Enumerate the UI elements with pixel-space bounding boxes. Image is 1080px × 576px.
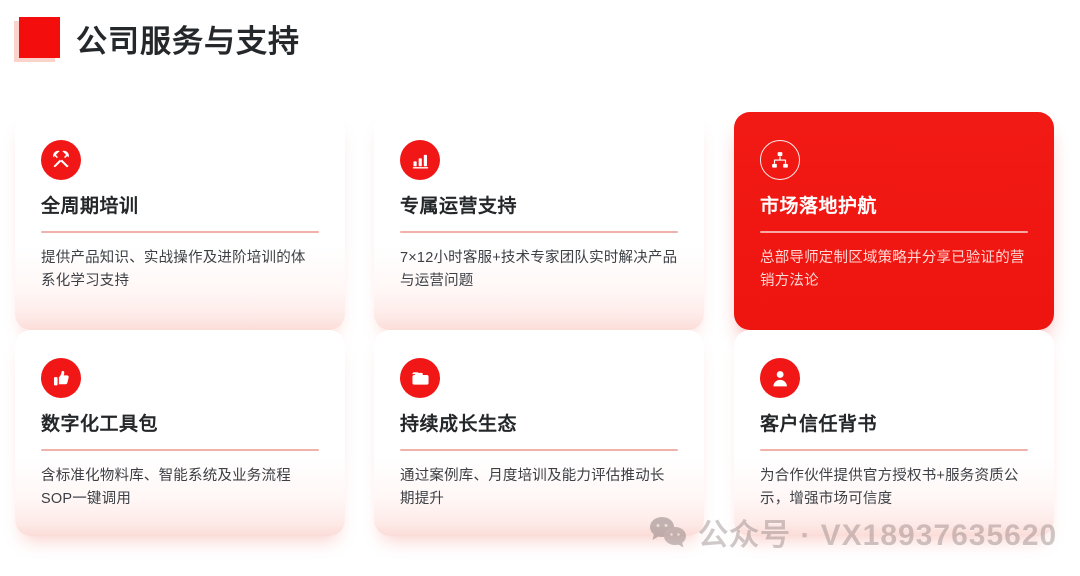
slide-canvas: 公司服务与支持 全周期培训 (0, 0, 1080, 576)
service-card-digital-toolkit[interactable]: 数字化工具包 含标准化物料库、智能系统及业务流程SOP一键调用 (15, 330, 345, 536)
folder-icon (400, 358, 440, 398)
service-card-continuous-growth-ecosystem[interactable]: 持续成长生态 通过案例库、月度培训及能力评估推动长期提升 (374, 330, 704, 536)
card-title: 全周期培训 (41, 196, 319, 219)
user-check-icon (760, 358, 800, 398)
card-divider (400, 449, 678, 451)
card-divider (760, 231, 1028, 233)
service-card-dedicated-operations-support[interactable]: 专属运营支持 7×12小时客服+技术专家团队实时解决产品与运营问题 (374, 112, 704, 330)
card-title: 客户信任背书 (760, 414, 1028, 437)
card-row-2: 数字化工具包 含标准化物料库、智能系统及业务流程SOP一键调用 持续成长生态 (0, 330, 1080, 536)
card-title: 数字化工具包 (41, 414, 319, 437)
title-marker-square (19, 17, 60, 58)
card-description: 通过案例库、月度培训及能力评估推动长期提升 (400, 465, 678, 512)
service-card-market-landing-escort[interactable]: 市场落地护航 总部导师定制区域策略并分享已验证的营销方法论 (734, 112, 1054, 330)
card-row-1: 全周期培训 提供产品知识、实战操作及进阶培训的体系化学习支持 (0, 112, 1080, 330)
bar-chart-icon (400, 140, 440, 180)
card-divider (400, 231, 678, 233)
sitemap-icon (760, 140, 800, 180)
service-card-full-cycle-training[interactable]: 全周期培训 提供产品知识、实战操作及进阶培训的体系化学习支持 (15, 112, 345, 330)
service-card-grid: 全周期培训 提供产品知识、实战操作及进阶培训的体系化学习支持 (0, 112, 1080, 536)
card-title: 市场落地护航 (760, 196, 1028, 219)
card-title: 持续成长生态 (400, 414, 678, 437)
page-header: 公司服务与支持 (14, 14, 300, 68)
tools-icon (41, 140, 81, 180)
card-description: 含标准化物料库、智能系统及业务流程SOP一键调用 (41, 465, 319, 512)
service-card-customer-trust-endorsement[interactable]: 客户信任背书 为合作伙伴提供官方授权书+服务资质公示，增强市场可信度 (734, 330, 1054, 536)
card-divider (41, 449, 319, 451)
card-divider (760, 449, 1028, 451)
card-description: 提供产品知识、实战操作及进阶培训的体系化学习支持 (41, 247, 319, 294)
card-description: 为合作伙伴提供官方授权书+服务资质公示，增强市场可信度 (760, 465, 1028, 512)
thumbs-up-icon (41, 358, 81, 398)
title-marker (14, 17, 62, 65)
page-title: 公司服务与支持 (76, 26, 300, 57)
card-description: 总部导师定制区域策略并分享已验证的营销方法论 (760, 247, 1028, 294)
card-divider (41, 231, 319, 233)
card-title: 专属运营支持 (400, 196, 678, 219)
card-description: 7×12小时客服+技术专家团队实时解决产品与运营问题 (400, 247, 678, 294)
